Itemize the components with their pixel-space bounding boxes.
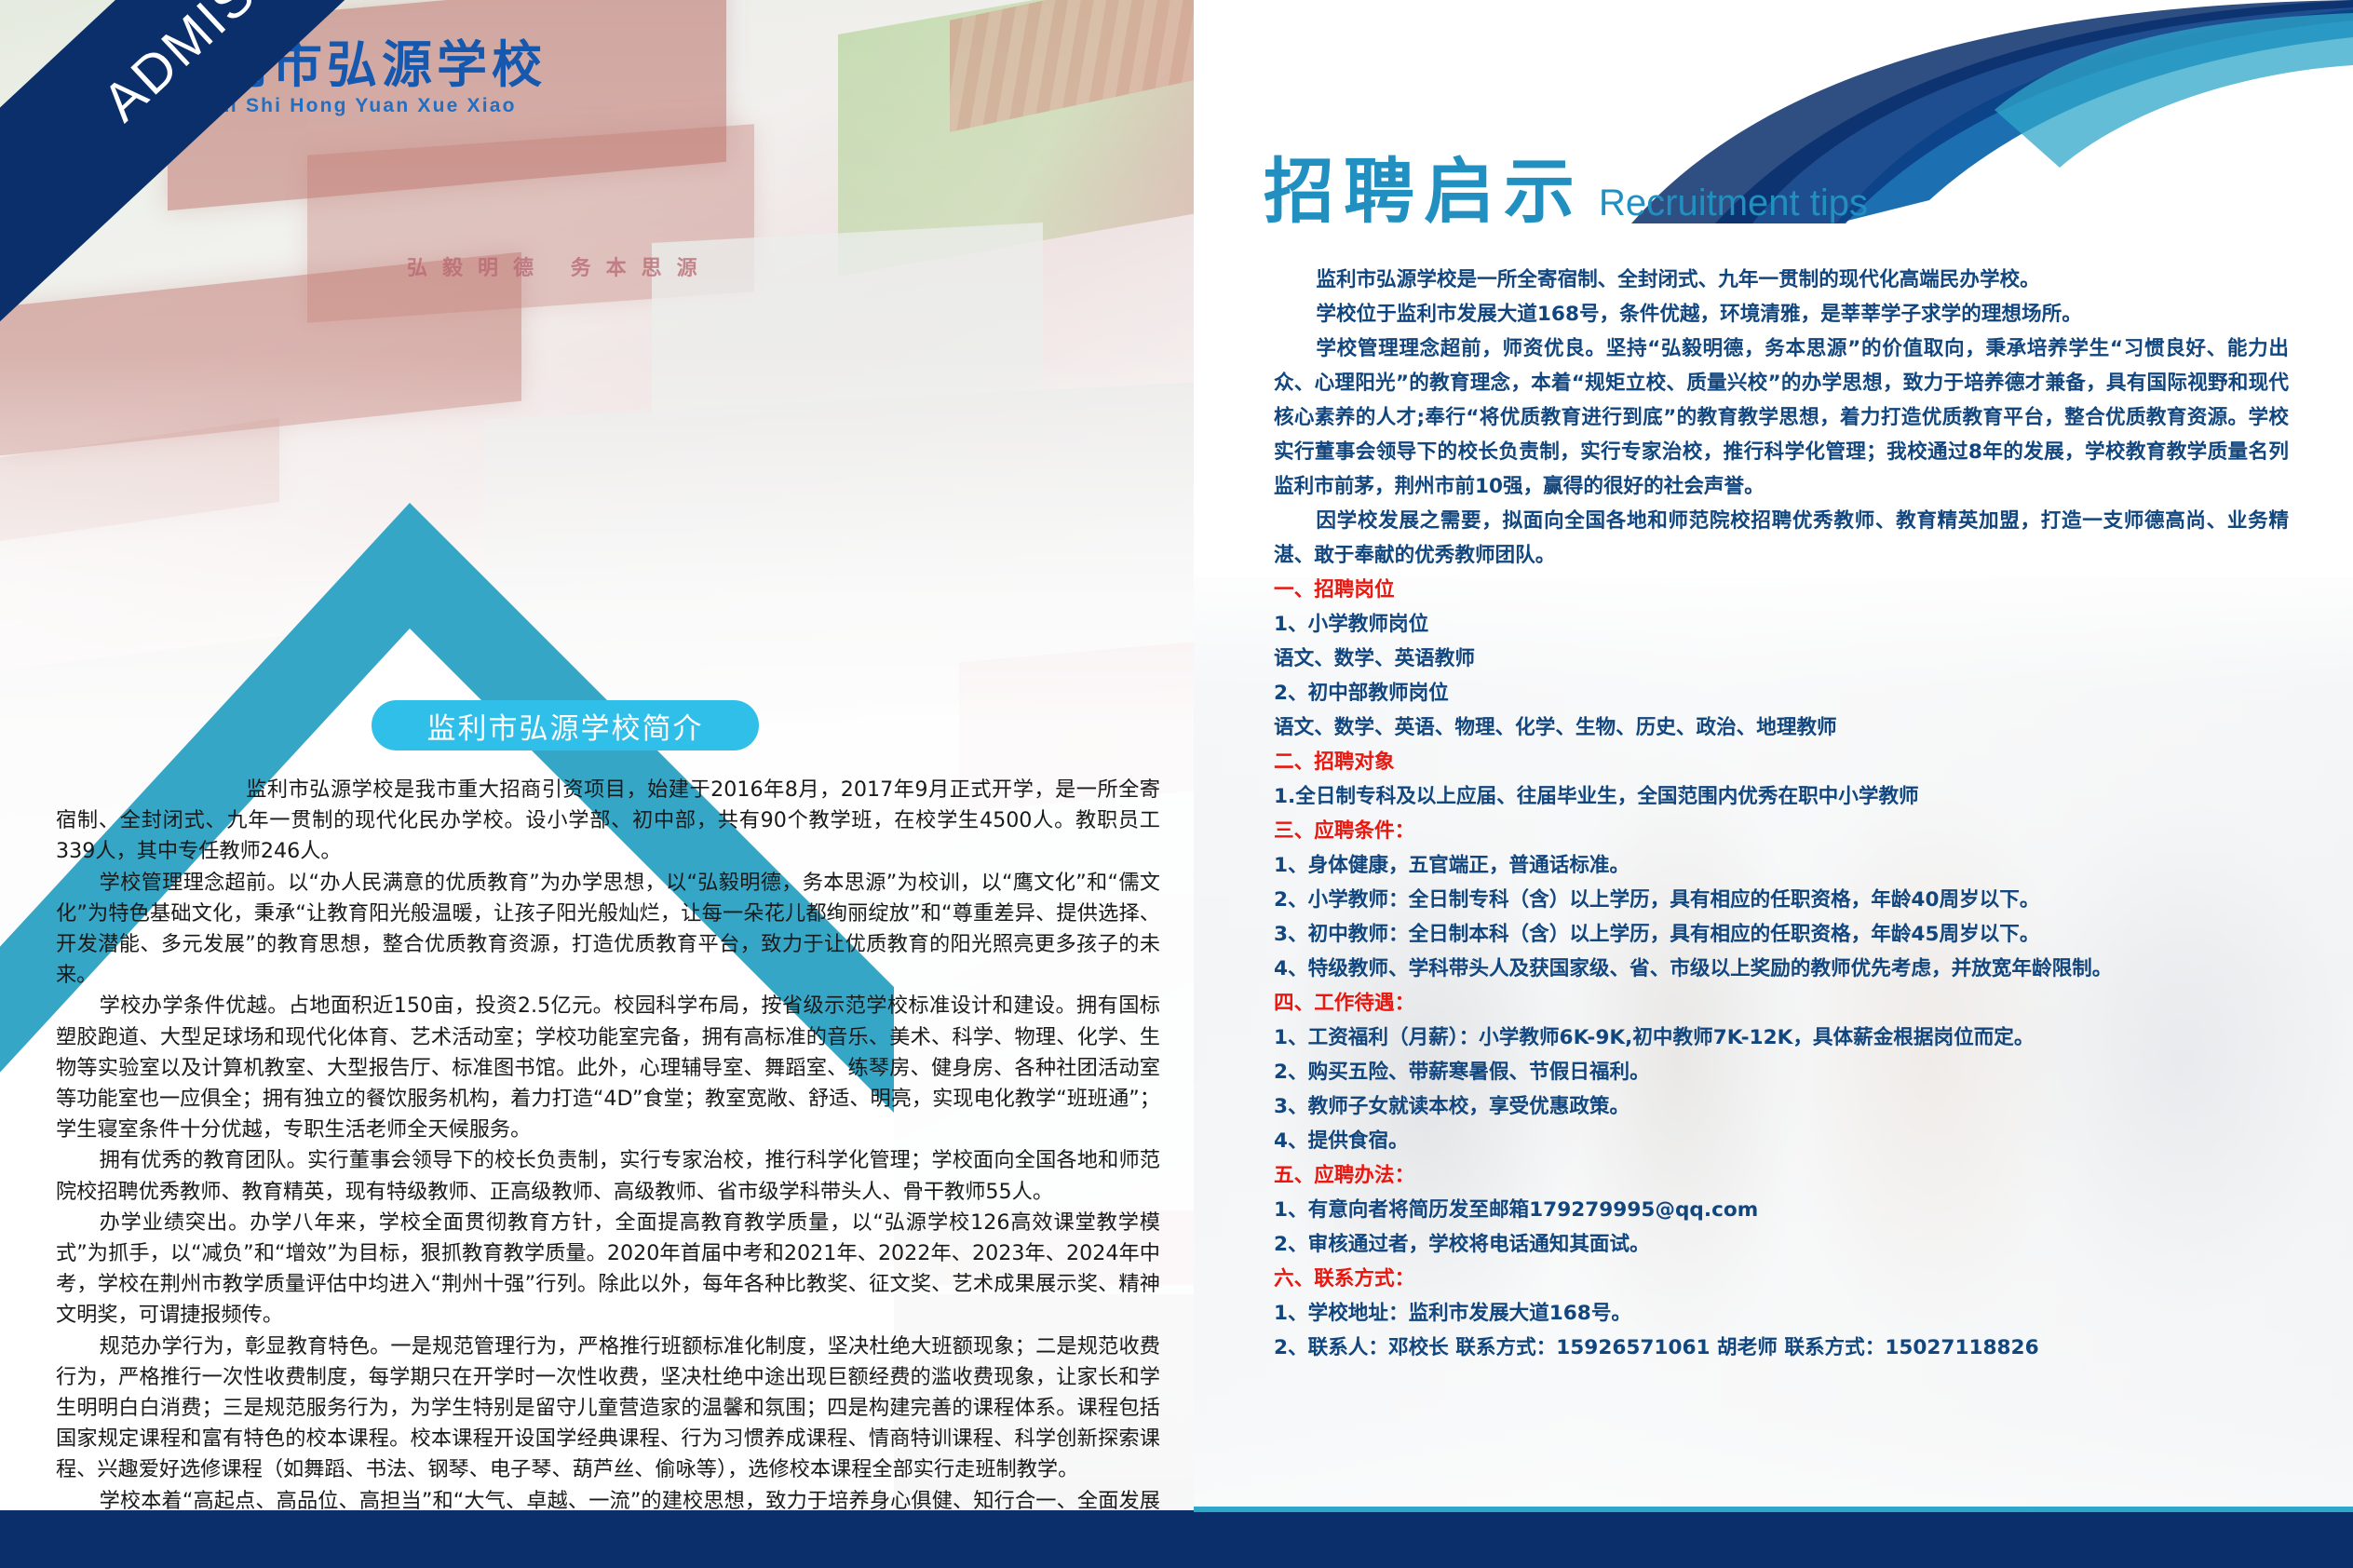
school-intro-badge: 监利市弘源学校简介 (372, 700, 759, 750)
recruitment-list-item: 2、初中部教师岗位 (1274, 676, 2289, 710)
right-page-footer-bar (1194, 1512, 2353, 1568)
recruitment-section-heading: 六、联系方式： (1274, 1262, 2289, 1296)
intro-paragraph: 规范办学行为，彰显教育特色。一是规范管理行为，严格推行班额标准化制度，坚决杜绝大… (56, 1331, 1160, 1486)
recruitment-title-chinese: 招聘启示 (1264, 156, 1584, 227)
recruitment-paragraph: 监利市弘源学校是一所全寄宿制、全封闭式、九年一贯制的现代化高端民办学校。 (1274, 263, 2289, 297)
recruitment-list-item: 3、教师子女就读本校，享受优惠政策。 (1274, 1089, 2289, 1124)
recruitment-title: 招聘启示 Recruitment tips (1264, 156, 1868, 227)
recruitment-section-heading: 三、应聘条件： (1274, 814, 2289, 848)
recruitment-email-item: 1、有意向者将简历发至邮箱179279995@qq.com (1274, 1193, 2289, 1227)
recruitment-paragraph: 学校管理理念超前，师资优良。坚持“弘毅明德，务本思源”的价值取向，秉承培养学生“… (1274, 331, 2289, 504)
recruitment-section-heading: 四、工作待遇： (1274, 986, 2289, 1021)
recruitment-list-item: 2、审核通过者，学校将电话通知其面试。 (1274, 1227, 2289, 1262)
recruitment-contact-item: 2、联系人：邓校长 联系方式：15926571061 胡老师 联系方式：1502… (1274, 1331, 2289, 1365)
recruitment-list-item: 2、小学教师：全日制专科（含）以上学历，具有相应的任职资格，年龄40周岁以下。 (1274, 883, 2289, 917)
recruitment-section-heading: 一、招聘岗位 (1274, 573, 2289, 607)
recruitment-list-item: 1.全日制专科及以上应届、往届毕业生，全国范围内优秀在职中小学教师 (1274, 779, 2289, 814)
school-intro-body: 监利市弘源学校是我市重大招商引资项目，始建于2016年8月，2017年9月正式开… (56, 775, 1160, 1568)
recruitment-section-heading: 五、应聘办法： (1274, 1158, 2289, 1193)
recruitment-paragraph: 学校位于监利市发展大道168号，条件优越，环境清雅，是莘莘学子求学的理想场所。 (1274, 297, 2289, 331)
recruitment-address-item: 1、学校地址：监利市发展大道168号。 (1274, 1296, 2289, 1331)
recruitment-title-english: Recruitment tips (1599, 184, 1868, 227)
recruitment-list-item: 语文、数学、英语、物理、化学、生物、历史、政治、地理教师 (1274, 710, 2289, 745)
intro-paragraph: 办学业绩突出。办学八年来，学校全面贯彻教育方针，全面提高教育教学质量，以“弘源学… (56, 1208, 1160, 1331)
recruitment-list-item: 语文、数学、英语教师 (1274, 642, 2289, 676)
intro-paragraph: 学校办学条件优越。占地面积近150亩，投资2.5亿元。校园科学布局，按省级示范学… (56, 991, 1160, 1145)
intro-paragraph: 学校管理理念超前。以“办人民满意的优质教育”为办学思想，以“弘毅明德，务本思源”… (56, 868, 1160, 992)
recruitment-list-item: 4、特级教师、学科带头人及获国家级、省、市级以上奖励的教师优先考虑，并放宽年龄限… (1274, 952, 2289, 986)
right-page-recruitment: 招聘启示 Recruitment tips 监利市弘源学校是一所全寄宿制、全封闭… (1194, 0, 2353, 1568)
school-intro-badge-label: 监利市弘源学校简介 (427, 705, 704, 747)
recruitment-paragraph: 因学校发展之需要，拟面向全国各地和师范院校招聘优秀教师、教育精英加盟，打造一支师… (1274, 504, 2289, 573)
left-page-footer-bar (0, 1510, 1194, 1568)
recruitment-section-heading: 二、招聘对象 (1274, 745, 2289, 779)
recruitment-list-item: 1、小学教师岗位 (1274, 607, 2289, 642)
intro-paragraph: 监利市弘源学校是我市重大招商引资项目，始建于2016年8月，2017年9月正式开… (56, 775, 1160, 868)
recruitment-list-item: 2、购买五险、带薪寒暑假、节假日福利。 (1274, 1055, 2289, 1089)
recruitment-body: 监利市弘源学校是一所全寄宿制、全封闭式、九年一贯制的现代化高端民办学校。 学校位… (1274, 263, 2289, 1365)
intro-paragraph: 拥有优秀的教育团队。实行董事会领导下的校长负责制，实行专家治校，推行科学化管理；… (56, 1145, 1160, 1207)
left-page-admissions-guide: 弘毅明德 务本思源 监利市弘源学校 Jian Li Shi Hong Yuan … (0, 0, 1194, 1568)
recruitment-list-item: 3、初中教师：全日制本科（含）以上学历，具有相应的任职资格，年龄45周岁以下。 (1274, 917, 2289, 952)
recruitment-list-item: 1、身体健康，五官端正，普通话标准。 (1274, 848, 2289, 883)
recruitment-list-item: 4、提供食宿。 (1274, 1124, 2289, 1158)
recruitment-list-item: 1、工资福利（月薪）：小学教师6K-9K,初中教师7K-12K，具体薪金根据岗位… (1274, 1021, 2289, 1055)
